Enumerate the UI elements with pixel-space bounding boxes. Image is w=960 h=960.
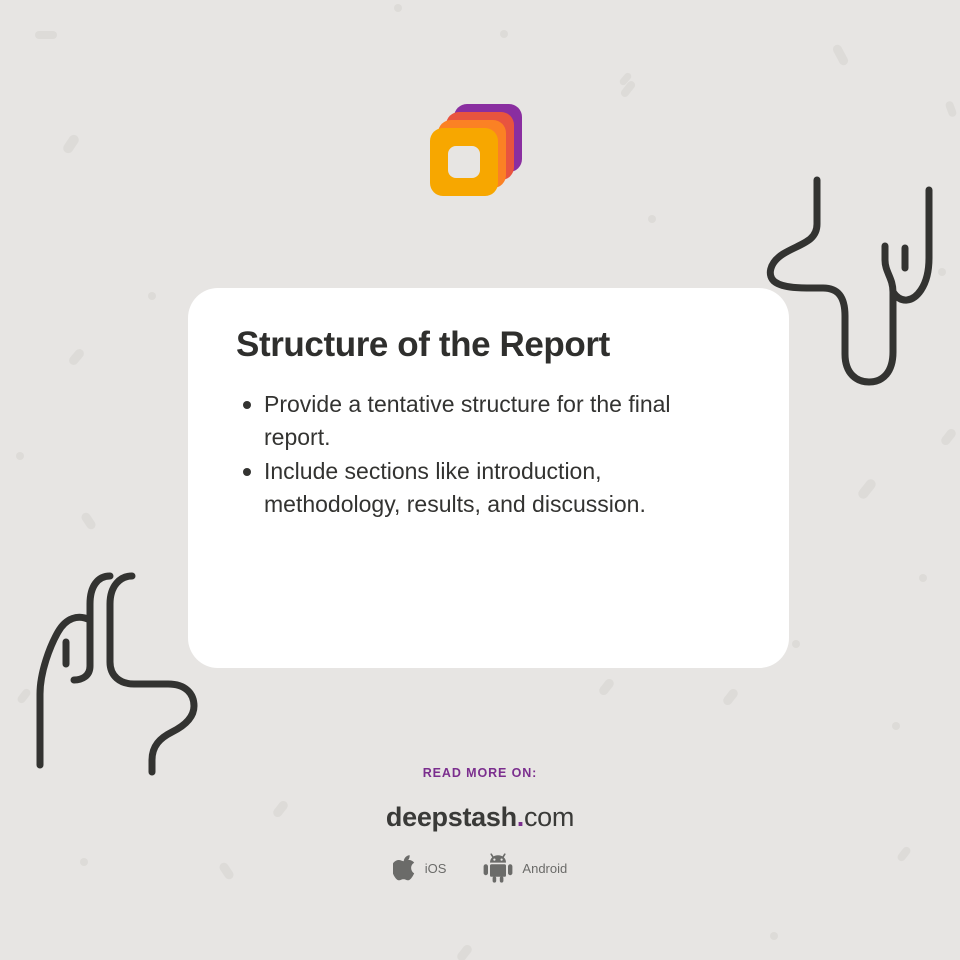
confetti-fleck [938, 268, 946, 276]
wordmark-brand: deepstash [386, 802, 517, 832]
bullet-dot-icon [236, 388, 258, 409]
confetti-fleck [619, 79, 636, 98]
deepstash-logo [430, 104, 522, 196]
bullet-dot-icon [236, 455, 258, 476]
confetti-fleck [618, 71, 632, 86]
confetti-fleck [597, 677, 615, 697]
poster-canvas: Structure of the Report Provide a tentat… [0, 0, 960, 960]
list-item: Include sections like introduction, meth… [236, 455, 743, 521]
apple-icon [393, 854, 417, 882]
confetti-fleck [35, 31, 57, 39]
confetti-fleck [500, 30, 508, 38]
footer: READ MORE ON: deepstash.com iOS [0, 766, 960, 883]
confetti-fleck [892, 722, 900, 730]
confetti-fleck [67, 347, 85, 367]
android-icon [482, 853, 514, 883]
page-title: Structure of the Report [236, 324, 743, 366]
confetti-fleck [61, 133, 80, 155]
store-badge-ios[interactable]: iOS [393, 854, 447, 882]
wordmark-tld: com [524, 802, 574, 832]
confetti-fleck [792, 640, 800, 648]
confetti-fleck [16, 452, 24, 460]
confetti-fleck [919, 574, 927, 582]
idea-card: Structure of the Report Provide a tentat… [188, 288, 789, 668]
store-badge-android[interactable]: Android [482, 853, 567, 883]
confetti-fleck [394, 4, 402, 12]
deepstash-wordmark[interactable]: deepstash.com [0, 802, 960, 833]
confetti-fleck [939, 427, 957, 447]
hand-pointing-up-icon [22, 560, 212, 775]
logo-inner-cutout [448, 146, 480, 178]
confetti-fleck [945, 100, 958, 118]
store-badges: iOS [0, 853, 960, 883]
confetti-fleck [455, 943, 473, 960]
wordmark-dot: . [517, 802, 524, 832]
confetti-fleck [721, 687, 739, 707]
confetti-fleck [856, 477, 877, 500]
bullet-list: Provide a tentative structure for the fi… [236, 388, 743, 521]
confetti-fleck [148, 292, 156, 300]
read-more-label: READ MORE ON: [0, 766, 960, 780]
bullet-text: Include sections like introduction, meth… [258, 455, 713, 521]
confetti-fleck [770, 932, 778, 940]
bullet-text: Provide a tentative structure for the fi… [258, 388, 713, 454]
confetti-fleck [831, 43, 849, 67]
list-item: Provide a tentative structure for the fi… [236, 388, 743, 454]
store-label-ios: iOS [425, 861, 447, 876]
confetti-fleck [80, 511, 98, 531]
store-label-android: Android [522, 861, 567, 876]
confetti-fleck [648, 215, 656, 223]
